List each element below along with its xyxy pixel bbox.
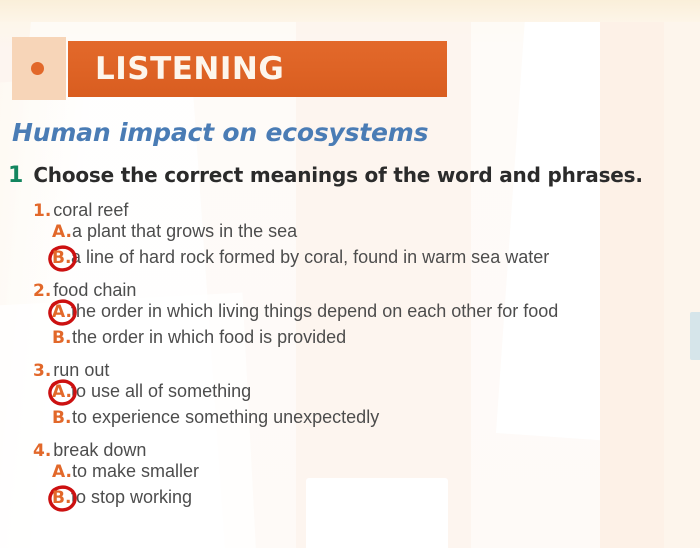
question-number: 1. xyxy=(33,201,51,221)
option-text: to experience something unexpectedly xyxy=(72,407,379,428)
answer-option[interactable]: A.to use all of something xyxy=(0,381,700,407)
question-item: 1.coral reefA.a plant that grows in the … xyxy=(0,200,700,273)
answer-option[interactable]: B.a line of hard rock formed by coral, f… xyxy=(0,247,700,273)
question-item: 2.food chain A.the order in which living… xyxy=(0,280,700,353)
lesson-subtitle: Human impact on ecosystems xyxy=(12,118,428,147)
worksheet-content: LISTENING Human impact on ecosystems 1 C… xyxy=(0,0,700,548)
option-letter: A. xyxy=(52,462,72,482)
answer-option[interactable]: A.a plant that grows in the sea xyxy=(0,221,700,247)
question-head: 1.coral reef xyxy=(0,200,700,221)
option-letter: B. xyxy=(52,248,72,268)
option-text: the order in which food is provided xyxy=(72,327,346,348)
answer-option[interactable]: B.to stop working xyxy=(0,487,700,513)
answer-option[interactable]: A.the order in which living things depen… xyxy=(0,301,700,327)
option-text: a plant that grows in the sea xyxy=(72,221,297,242)
question-head: 2.food chain xyxy=(0,280,700,301)
bullet-dot-icon xyxy=(31,62,44,75)
question-term: run out xyxy=(53,360,109,381)
header-swatch xyxy=(12,37,66,100)
question-term: break down xyxy=(53,440,146,461)
question-number: 3. xyxy=(33,361,51,381)
worksheet-page: LISTENING Human impact on ecosystems 1 C… xyxy=(0,0,700,548)
option-letter: A. xyxy=(52,222,72,242)
question-item: 3.run out A.to use all of somethingB.to … xyxy=(0,360,700,433)
exercise-prompt: 1 Choose the correct meanings of the wor… xyxy=(8,163,643,188)
option-text: to use all of something xyxy=(71,381,251,402)
option-letter: B. xyxy=(52,488,72,508)
answer-option[interactable]: B.the order in which food is provided xyxy=(0,327,700,353)
question-head: 4.break down xyxy=(0,440,700,461)
question-head: 3.run out xyxy=(0,360,700,381)
question-list: 1.coral reefA.a plant that grows in the … xyxy=(0,200,700,520)
question-item: 4.break downA.to make smaller B.to stop … xyxy=(0,440,700,513)
option-text: to make smaller xyxy=(72,461,199,482)
question-term: food chain xyxy=(53,280,136,301)
answer-option[interactable]: A.to make smaller xyxy=(0,461,700,487)
section-title: LISTENING xyxy=(95,51,284,87)
section-header: LISTENING xyxy=(12,37,447,100)
header-banner: LISTENING xyxy=(68,41,447,97)
question-number: 2. xyxy=(33,281,51,301)
option-letter: B. xyxy=(52,328,72,348)
answer-option[interactable]: B.to experience something unexpectedly xyxy=(0,407,700,433)
exercise-number: 1 xyxy=(8,163,23,188)
question-number: 4. xyxy=(33,441,51,461)
option-text: a line of hard rock formed by coral, fou… xyxy=(71,247,549,268)
exercise-instruction: Choose the correct meanings of the word … xyxy=(33,163,642,187)
option-text: to stop working xyxy=(71,487,192,508)
option-letter: B. xyxy=(52,408,72,428)
question-term: coral reef xyxy=(53,200,128,221)
option-letter: A. xyxy=(52,382,72,402)
option-text: the order in which living things depend … xyxy=(71,301,558,322)
option-letter: A. xyxy=(52,302,72,322)
